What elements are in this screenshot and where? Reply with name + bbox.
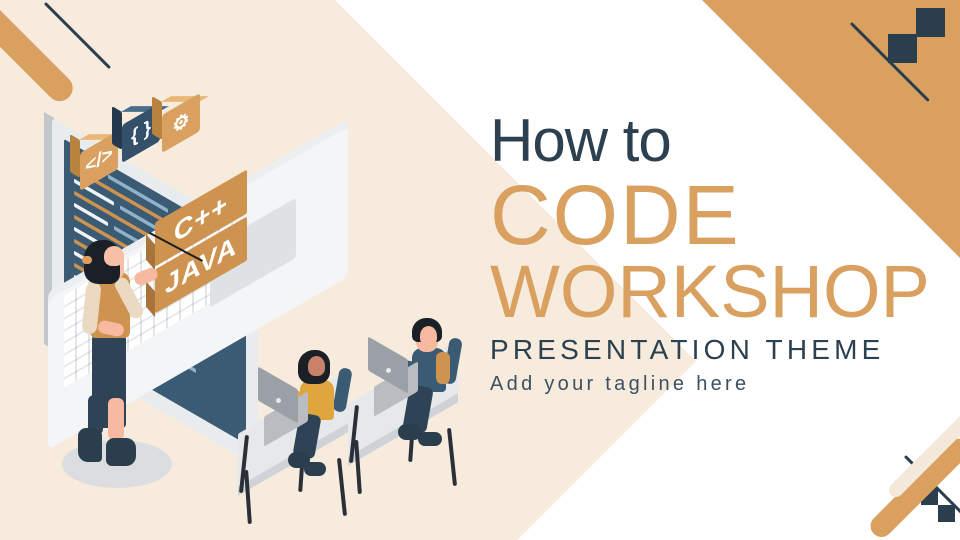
- gear-icon-side: [152, 96, 162, 140]
- bottom-right-tan-bar: [866, 434, 960, 540]
- title-line-workshop: WORKSHOP: [490, 254, 940, 329]
- title-line-how-to: How to: [490, 112, 940, 171]
- bottom-right-square-lower: [938, 505, 955, 522]
- gear-icon-face: ⚙: [162, 93, 200, 153]
- presentation-slide: C++ JAVA </> { } ⚙: [0, 0, 960, 540]
- title-text-block: How to CODE WORKSHOP PRESENTATION THEME …: [490, 112, 940, 396]
- tagline: Add your tagline here: [490, 373, 940, 396]
- top-right-square-upper: [916, 8, 945, 37]
- curly-braces-icon-side: [112, 106, 122, 150]
- coding-workshop-illustration: C++ JAVA </> { } ⚙: [0, 0, 520, 540]
- code-tag-icon-side: [70, 134, 80, 178]
- subtitle: PRESENTATION THEME: [490, 334, 940, 366]
- title-line-code: CODE: [490, 173, 940, 259]
- top-right-square-lower: [888, 34, 917, 63]
